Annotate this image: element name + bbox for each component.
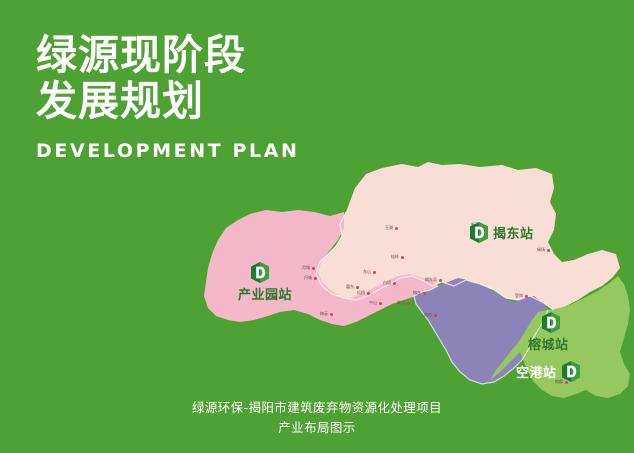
page-title-line-1: 绿源现阶段 — [36, 32, 366, 78]
city-marker: 玉湖 — [385, 225, 398, 231]
station-label-chanyeyuan: 产业园站 — [238, 284, 292, 303]
page-title-line-2: 发展规划 — [36, 78, 366, 124]
city-label: 炮台 — [424, 312, 432, 318]
city-label: 丹城 — [304, 275, 312, 281]
station-marker-chanyeyuan[interactable]: 产业园站 — [238, 262, 292, 303]
caption-line-1: 绿源环保-揭阳市建筑废弃物资源化处理项目 — [0, 398, 634, 418]
city-dot-icon — [439, 279, 442, 282]
city-dot-icon — [423, 292, 426, 295]
station-label-jiedong: 揭东站 — [493, 223, 534, 242]
lvyuan-logo-icon — [562, 361, 580, 382]
city-dot-icon — [393, 282, 396, 285]
city-label: 中山 — [369, 300, 377, 306]
station-label-rongcheng: 榕城站 — [528, 334, 569, 353]
city-dot-icon — [356, 286, 359, 289]
city-marker: 锡场 — [537, 247, 550, 253]
city-dot-icon — [395, 227, 398, 230]
city-dot-icon — [314, 277, 317, 280]
station-marker-jiedong[interactable]: 揭东站 — [470, 222, 534, 243]
city-marker: 桂岭 — [391, 254, 404, 260]
city-label: 桂岭 — [391, 254, 399, 260]
city-dot-icon — [525, 295, 528, 298]
city-dot-icon — [401, 256, 404, 259]
city-label: 登岗 — [515, 293, 523, 299]
city-label: 揭东县 — [425, 277, 437, 283]
city-marker: 新兴 — [397, 300, 410, 306]
poster-caption: 绿源环保-揭阳市建筑废弃物资源化处理项目 产业布局图示 — [0, 398, 634, 438]
city-marker: 炮台 — [424, 312, 437, 318]
city-label: 锡场 — [537, 247, 545, 253]
city-dot-icon — [367, 292, 370, 295]
city-marker: 月城 — [302, 265, 315, 271]
city-marker: 东山 — [363, 269, 376, 275]
city-label: 东山 — [363, 269, 371, 275]
city-marker: 榕东 — [413, 290, 426, 296]
city-dot-icon — [312, 267, 315, 270]
lvyuan-logo-icon — [251, 262, 269, 283]
lvyuan-logo-icon — [470, 222, 488, 243]
city-label: 玉湖 — [385, 225, 393, 231]
city-marker: 中山 — [369, 300, 382, 306]
city-dot-icon — [547, 249, 550, 252]
station-marker-konggang[interactable]: 空港站 — [516, 361, 580, 382]
city-marker: 梅云 — [320, 311, 333, 317]
city-marker: 揭东县 — [425, 277, 442, 283]
city-label: 新兴 — [397, 300, 405, 306]
city-label: 月城 — [302, 265, 310, 271]
city-label: 梅云 — [320, 311, 328, 317]
city-label: 白塔 — [383, 280, 391, 286]
city-label: 榕东 — [413, 290, 421, 296]
title-block: 绿源现阶段 发展规划 DEVELOPMENT PLAN — [36, 32, 366, 162]
city-marker: 白塔 — [383, 280, 396, 286]
caption-line-2: 产业布局图示 — [0, 418, 634, 438]
city-dot-icon — [407, 302, 410, 305]
city-label: 磐东 — [346, 284, 354, 290]
station-marker-rongcheng[interactable]: 榕城站 — [528, 312, 569, 353]
city-dot-icon — [373, 271, 376, 274]
map-container: 玉湖 新亨 锡场 桂岭 白塔 月城 丹城 龙尾 磐东 梅云 仙桥 东山 中山 新… — [150, 150, 634, 405]
city-dot-icon — [379, 302, 382, 305]
station-label-konggang: 空港站 — [516, 362, 557, 381]
lvyuan-logo-icon — [542, 312, 560, 333]
city-marker: 丹城 — [304, 275, 317, 281]
city-dot-icon — [330, 313, 333, 316]
city-dot-icon — [434, 314, 437, 317]
city-marker: 登岗 — [515, 293, 528, 299]
city-marker: 仙桥 — [357, 290, 370, 296]
city-label: 仙桥 — [357, 290, 365, 296]
development-plan-poster: 绿源现阶段 发展规划 DEVELOPMENT PLAN 玉湖 新亨 锡场 桂岭 … — [0, 0, 634, 453]
